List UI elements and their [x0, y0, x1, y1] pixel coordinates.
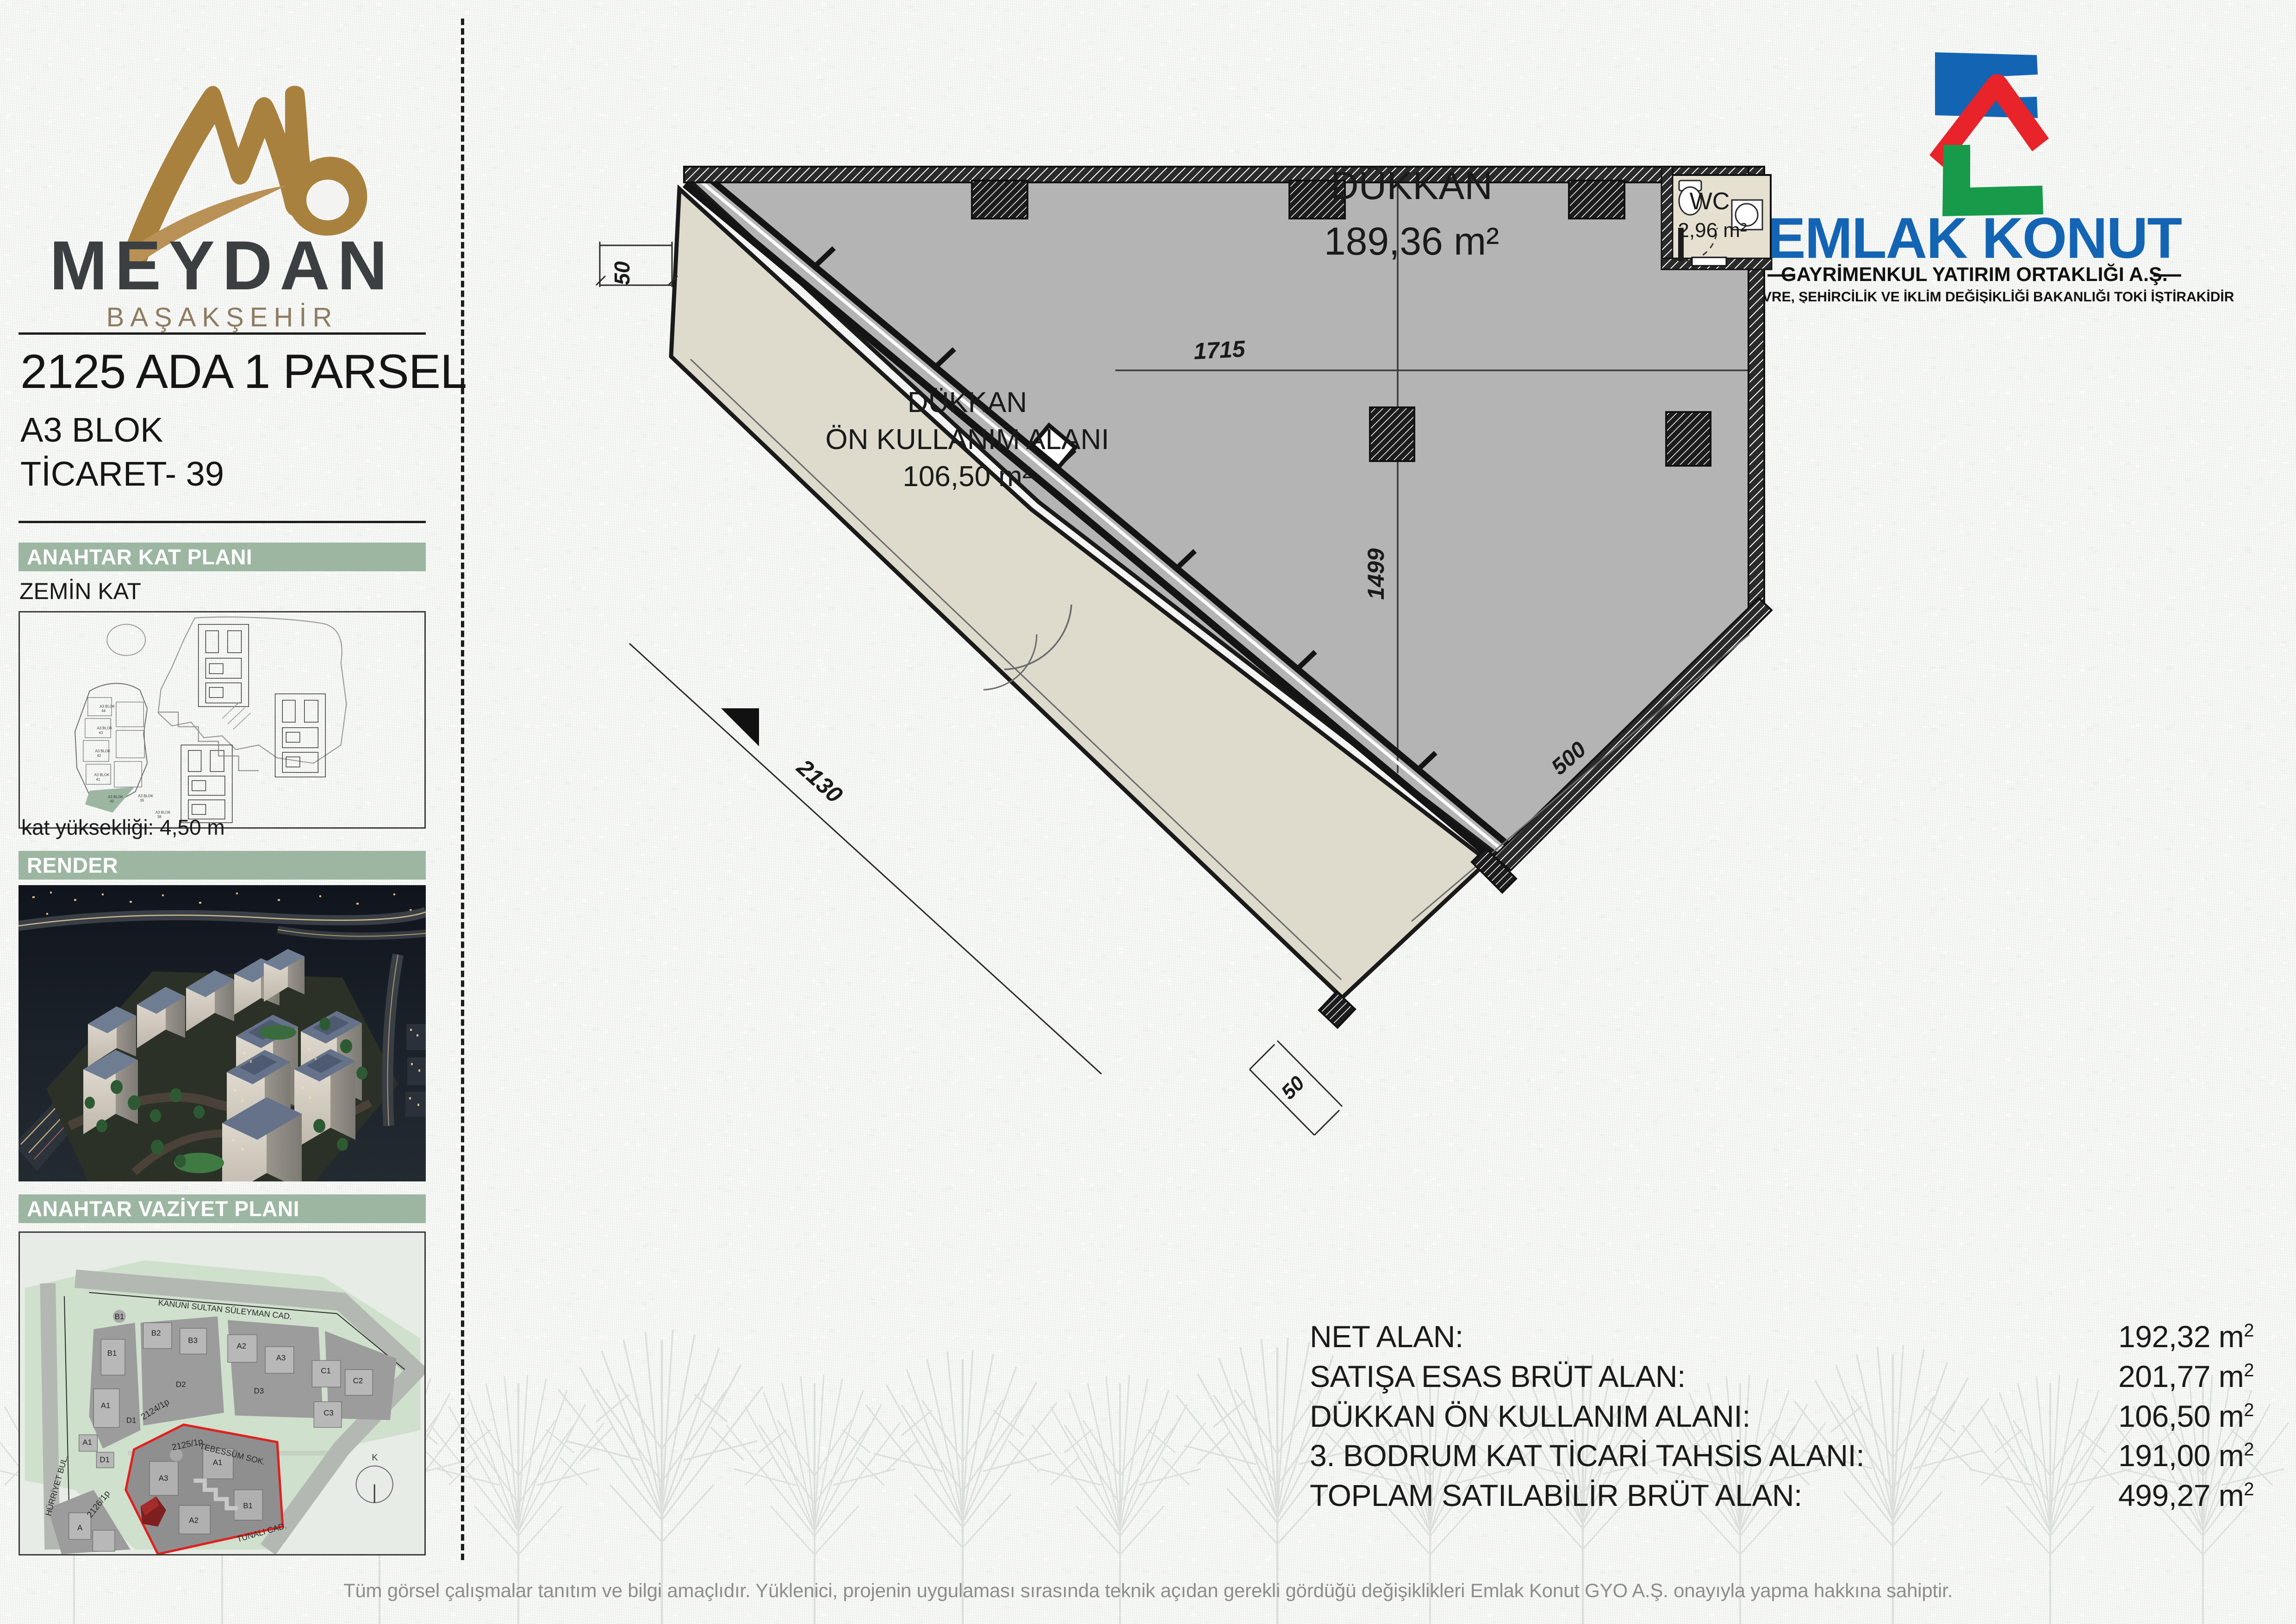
svg-text:D3: D3 [254, 1387, 264, 1395]
meydan-wordmark: MEYDAN [50, 226, 395, 304]
svg-text:A3 BLOK: A3 BLOK [108, 795, 124, 799]
svg-text:B2: B2 [151, 1329, 161, 1337]
dimension-label-1715: 1715 [1193, 336, 1246, 364]
svg-text:A3 BLOK: A3 BLOK [138, 794, 154, 798]
wc-room-area: 2,96 m² [1678, 219, 1747, 242]
svg-text:A1: A1 [101, 1401, 111, 1410]
svg-text:D1: D1 [126, 1416, 137, 1424]
svg-text:A1: A1 [82, 1438, 92, 1447]
area-row: SATIŞA ESAS BRÜT ALAN: 201,77 m2 [1310, 1357, 2254, 1397]
area-schedule: NET ALAN: 192,32 m2 SATIŞA ESAS BRÜT ALA… [1310, 1317, 2254, 1516]
section-band-site-plan: ANAHTAR VAZİYET PLANI [19, 1194, 426, 1223]
block-label: A3 BLOK [20, 409, 437, 451]
svg-text:42: 42 [97, 754, 101, 758]
entrance-marker [721, 708, 759, 746]
basaksehir-wordmark: BAŞAKŞEHİR [106, 302, 338, 332]
svg-text:B3: B3 [188, 1336, 198, 1345]
parcel-title: 2125 ADA 1 PARSEL [20, 346, 437, 397]
svg-text:A2: A2 [189, 1516, 199, 1525]
svg-text:A3 BLOK: A3 BLOK [97, 726, 112, 731]
svg-text:A1: A1 [213, 1458, 223, 1467]
area-label: DÜKKAN ÖN KULLANIM ALANI: [1310, 1397, 1750, 1437]
svg-text:B1: B1 [115, 1312, 124, 1321]
svg-text:43: 43 [99, 731, 103, 735]
area-label: TOPLAM SATILABİLİR BRÜT ALAN: [1310, 1476, 1802, 1516]
key-floor-plan-figure: A3 BLOK44 A3 BLOK43 A3 BLOK42 A3 BLOK41 … [19, 611, 426, 829]
area-value: 192,32 [2118, 1319, 2210, 1354]
dimension-label-50-bottom: 50 [1277, 1072, 1309, 1104]
area-row: DÜKKAN ÖN KULLANIM ALANI: 106,50 m2 [1310, 1397, 2254, 1437]
room-wc: WC 2,96 m² [1661, 167, 1772, 269]
floor-height-note: kat yüksekliği: 4,50 m [21, 815, 225, 840]
svg-text:D1: D1 [100, 1455, 110, 1464]
title-block: 2125 ADA 1 PARSEL A3 BLOK TİCARET- 39 [20, 346, 437, 495]
dukkan-main-area: 189,36 m² [1324, 219, 1499, 263]
svg-text:A3 BLOK: A3 BLOK [100, 704, 115, 708]
svg-text:44: 44 [101, 709, 106, 713]
area-row: NET ALAN: 192,32 m2 [1310, 1317, 2254, 1357]
floor-plan-drawing: WC 2,96 m² DÜKKAN 189,36 m² DÜKKAN ÖN KU… [491, 28, 2277, 1287]
panel-divider [461, 19, 464, 1560]
meydan-logo: MEYDAN BAŞAKŞEHİR [28, 37, 417, 333]
title-rule-top [19, 332, 426, 335]
site-plan-figure: K KANUNİ SULTAN SÜLEYMAN CAD. TEBESSÜM S… [19, 1231, 426, 1555]
section-band-key-floor-plan: ANAHTAR KAT PLANI [19, 543, 426, 571]
svg-text:41: 41 [96, 777, 100, 781]
area-value: 106,50 [2118, 1399, 2210, 1433]
area-label: 3. BODRUM KAT TİCARİ TAHSİS ALANI: [1310, 1436, 1864, 1476]
svg-text:D2: D2 [176, 1380, 186, 1389]
area-row: TOPLAM SATILABİLİR BRÜT ALAN: 499,27 m2 [1310, 1476, 2254, 1516]
area-value: 191,00 [2118, 1438, 2210, 1473]
dimension-label-50-top: 50 [610, 261, 634, 285]
svg-text:C1: C1 [321, 1366, 331, 1375]
dimension-50-top [596, 242, 678, 287]
svg-text:A: A [77, 1523, 83, 1532]
dukkan-front-label-2: ÖN KULLANIM ALANI [825, 424, 1109, 456]
front-area-end-wall [1319, 992, 1355, 1028]
svg-text:A3: A3 [159, 1474, 168, 1482]
wc-room-label: WC [1690, 188, 1730, 215]
svg-text:A3: A3 [276, 1354, 286, 1362]
dimension-label-1499: 1499 [1363, 548, 1389, 600]
unit-label: TİCARET- 39 [20, 453, 437, 495]
svg-text:A3 BLOK: A3 BLOK [94, 773, 110, 777]
left-info-panel: MEYDAN BAŞAKŞEHİR 2125 ADA 1 PARSEL A3 B… [0, 0, 444, 1624]
floor-name-label: ZEMİN KAT [19, 578, 141, 605]
dukkan-front-area: 106,50 m² [902, 461, 1032, 493]
site-plan-band-label: ANAHTAR VAZİYET PLANI [27, 1196, 299, 1221]
svg-text:C3: C3 [324, 1409, 334, 1418]
svg-text:C2: C2 [353, 1376, 363, 1385]
svg-text:40: 40 [110, 800, 114, 804]
section-band-render: RENDER [19, 851, 426, 880]
svg-text:B1: B1 [107, 1349, 117, 1358]
svg-text:A3 BLOK: A3 BLOK [95, 749, 111, 753]
dukkan-main-label: DÜKKAN [1331, 164, 1493, 207]
dukkan-front-label-1: DÜKKAN [908, 387, 1027, 418]
render-band-label: RENDER [27, 853, 118, 878]
area-value: 201,77 [2118, 1359, 2210, 1393]
area-row: 3. BODRUM KAT TİCARİ TAHSİS ALANI: 191,0… [1310, 1436, 2254, 1476]
area-value: 499,27 [2118, 1478, 2210, 1512]
area-label: SATIŞA ESAS BRÜT ALAN: [1310, 1357, 1686, 1397]
north-marker-label: K [372, 1453, 378, 1463]
footer-disclaimer: Tüm görsel çalışmalar tanıtım ve bilgi a… [0, 1580, 2296, 1602]
svg-text:A3 BLOK: A3 BLOK [156, 810, 171, 814]
key-floor-plan-band-label: ANAHTAR KAT PLANI [27, 544, 252, 569]
svg-text:B1: B1 [243, 1501, 253, 1510]
svg-text:39: 39 [140, 799, 144, 803]
area-label: NET ALAN: [1310, 1317, 1463, 1357]
dimension-line-2130 [629, 643, 1101, 1074]
render-image [19, 885, 426, 1181]
title-rule-bottom [19, 521, 426, 523]
svg-text:A2: A2 [236, 1342, 246, 1350]
